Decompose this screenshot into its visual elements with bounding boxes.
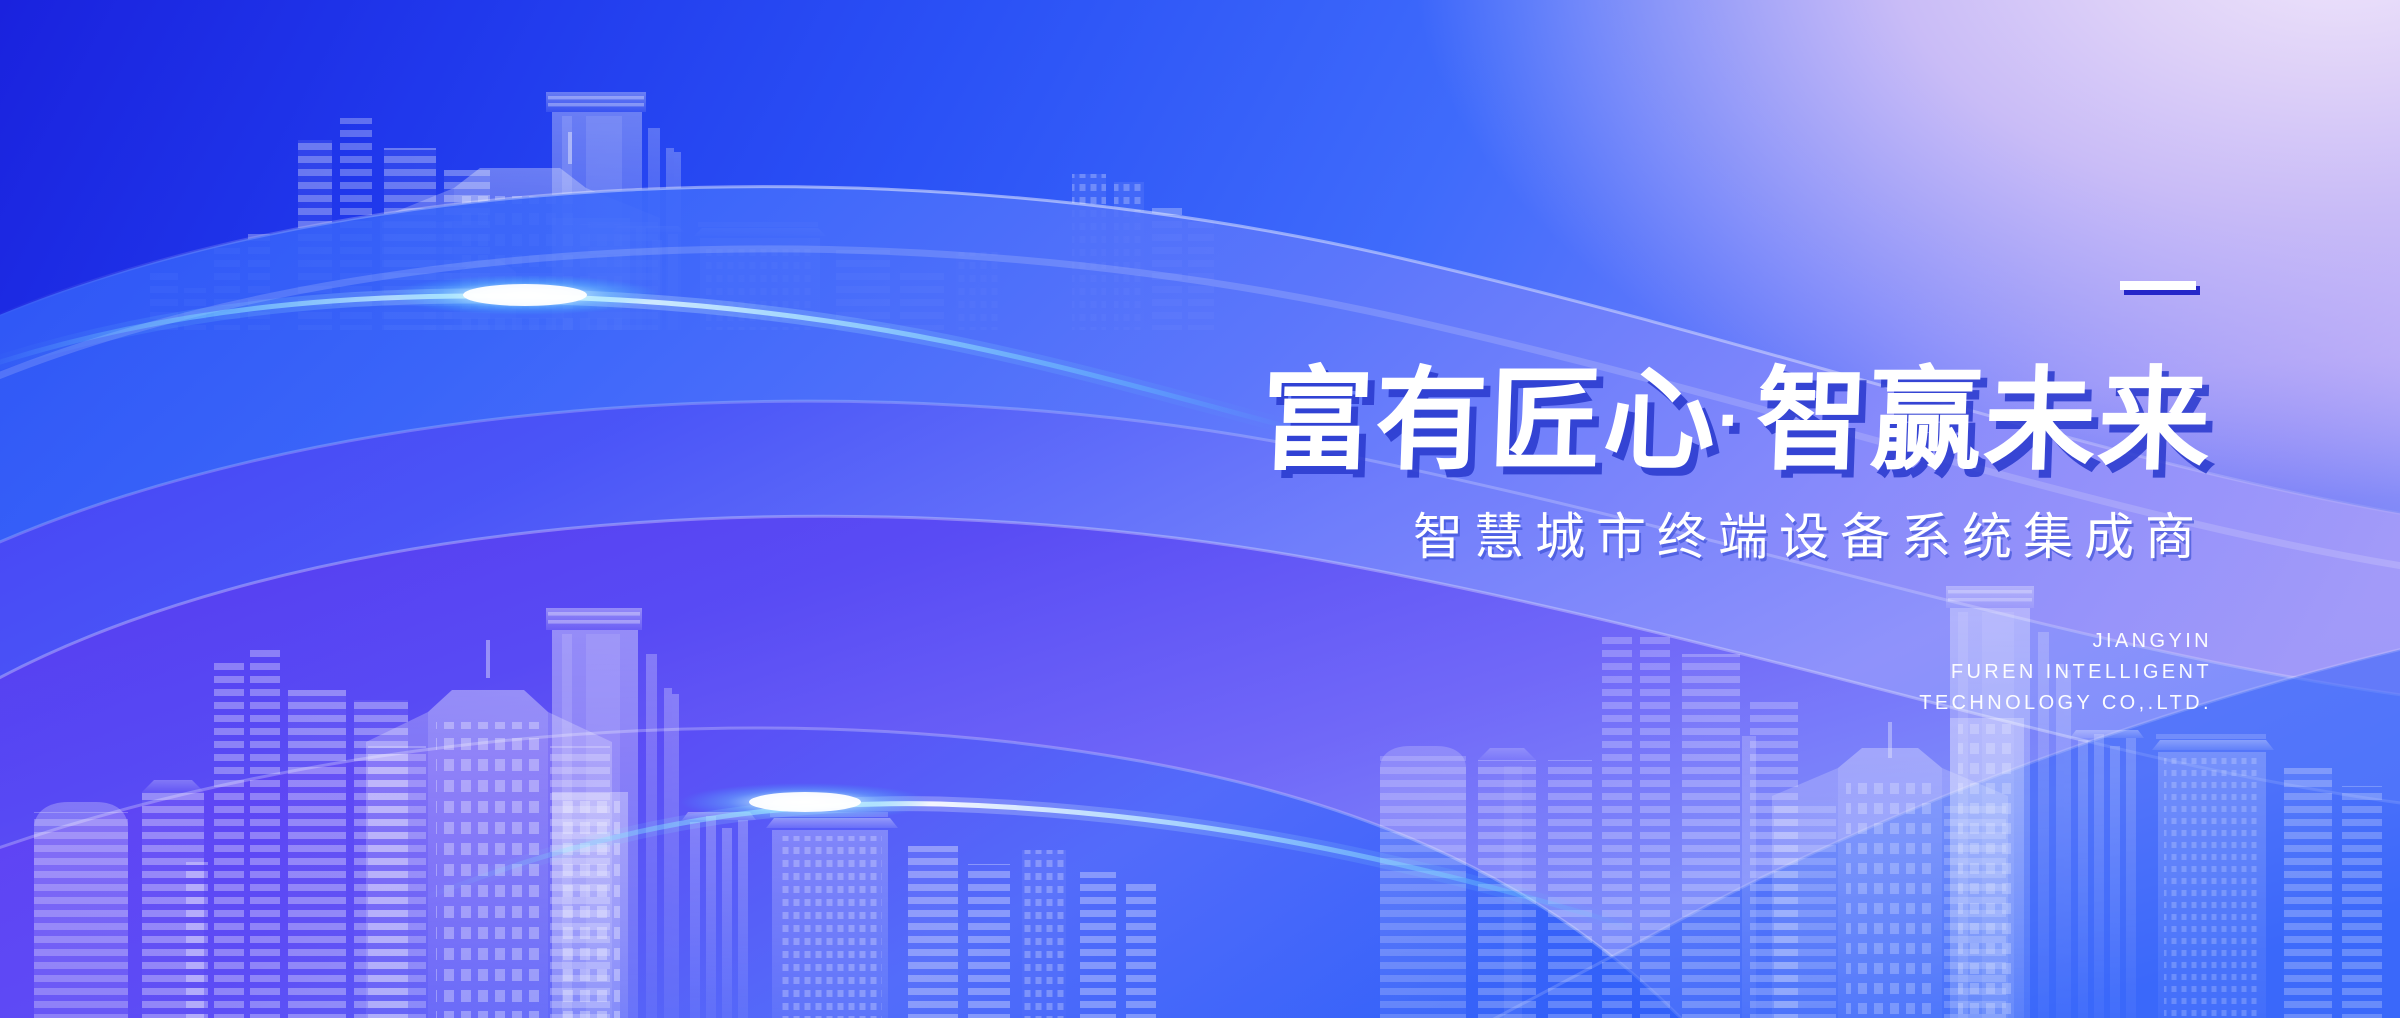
company-line-city: JIANGYIN [0, 626, 2212, 657]
title-separator-dot: · [1716, 378, 1758, 461]
title-right-text: 智赢未来 [1754, 358, 2214, 483]
banner-text-block: 富有匠心·智赢未来 智慧城市终端设备系统集成商 JIANGYIN FUREN I… [0, 0, 2400, 1018]
page-subtitle: 智慧城市终端设备系统集成商 [0, 505, 2206, 569]
company-name-block: JIANGYIN FUREN INTELLIGENT TECHNOLOGY CO… [0, 626, 2212, 719]
page-title: 富有匠心·智赢未来 [0, 360, 2214, 481]
accent-dash-mark [2120, 281, 2196, 290]
company-line-suffix: TECHNOLOGY CO,.LTD. [0, 688, 2212, 719]
company-line-name: FUREN INTELLIGENT [0, 657, 2212, 688]
title-left-text: 富有匠心 [1259, 358, 1719, 483]
banner-canvas: 富有匠心·智赢未来 智慧城市终端设备系统集成商 JIANGYIN FUREN I… [0, 0, 2400, 1018]
